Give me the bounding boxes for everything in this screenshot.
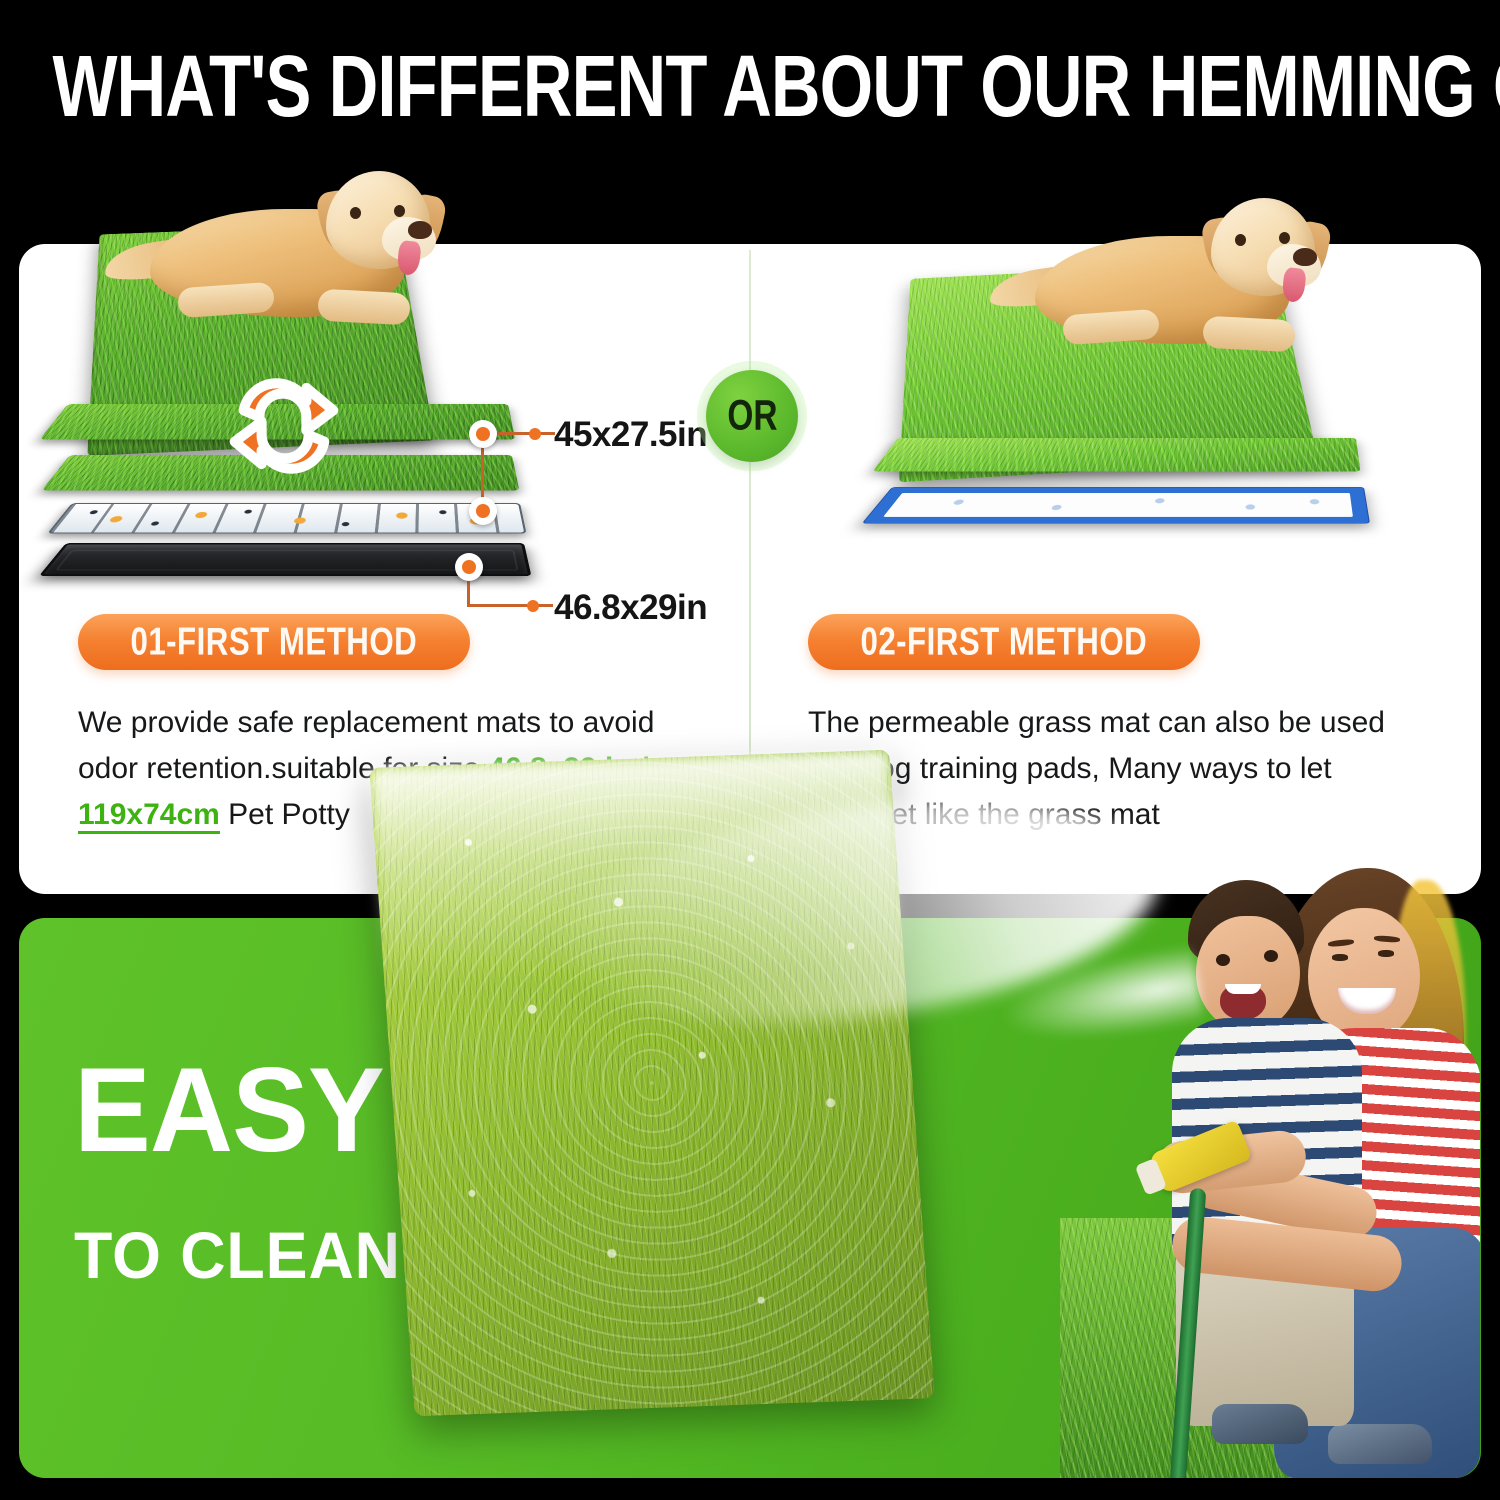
callout-label-grass-size: 45x27.5in (554, 415, 707, 455)
callout-label-tray-size: 46.8x29in (554, 588, 707, 628)
method-01-badge: 01-FIRST METHOD (78, 614, 470, 670)
method-02-body-pre: The permeable grass mat can also be used… (808, 706, 1385, 831)
boy-eye-right (1264, 950, 1278, 962)
swap-arrows-icon (228, 372, 340, 480)
callout-enddot-grass (529, 428, 541, 440)
boy-open-mouth (1220, 984, 1266, 1020)
method-02-badge: 02-FIRST METHOD (808, 614, 1200, 670)
wet-grass-mat-photo (369, 750, 934, 1417)
right-grass-slab (873, 438, 1361, 471)
or-badge: OR (706, 370, 798, 462)
callout-dot-pad (469, 497, 497, 525)
callout-dot-grass (469, 420, 497, 448)
product-infographic: WHAT'S DIFFERENT ABOUT OUR HEMMING GRASS… (0, 0, 1500, 1500)
boy-shoe (1212, 1404, 1308, 1444)
method-02-badge-label: 02-FIRST METHOD (860, 620, 1147, 664)
family-hosing-photo (1060, 836, 1480, 1478)
boy-eye-left (1216, 954, 1230, 966)
promo-headline: EASY (74, 1055, 384, 1165)
method-02-body: The permeable grass mat can also be used… (808, 700, 1388, 838)
right-dog-illustration (1035, 192, 1335, 357)
callout-dot-tray (455, 553, 483, 581)
callout-enddot-tray (527, 600, 539, 612)
left-dog-illustration (150, 165, 480, 345)
callout-line-tray-h (467, 604, 553, 607)
method-01-body-post: Pet Potty (220, 798, 350, 831)
woman-shoe (1328, 1424, 1432, 1464)
dog-tongue (1281, 267, 1306, 303)
woman-face (1308, 908, 1420, 1040)
dog-leg-rear (1202, 316, 1296, 353)
dog-leg-rear (317, 289, 411, 326)
woman-eye-right (1378, 950, 1394, 957)
right-training-pad (862, 487, 1370, 524)
or-badge-label: OR (727, 392, 777, 440)
dog-nose (408, 221, 432, 239)
layer-patterned-pad (47, 503, 526, 534)
page-title: WHAT'S DIFFERENT ABOUT OUR HEMMING GRASS… (53, 36, 1448, 136)
dog-eye-left (1235, 234, 1246, 246)
method-01-badge-label: 01-FIRST METHOD (130, 620, 417, 664)
dog-tongue (396, 240, 421, 276)
woman-eye-left (1332, 954, 1348, 961)
dog-nose (1293, 248, 1317, 266)
dog-eye-right (394, 205, 405, 217)
promo-subhead: TO CLEAN (74, 1222, 401, 1288)
dog-eye-right (1279, 232, 1290, 244)
callout-line-grass-h (497, 432, 555, 435)
dog-eye-left (350, 207, 361, 219)
